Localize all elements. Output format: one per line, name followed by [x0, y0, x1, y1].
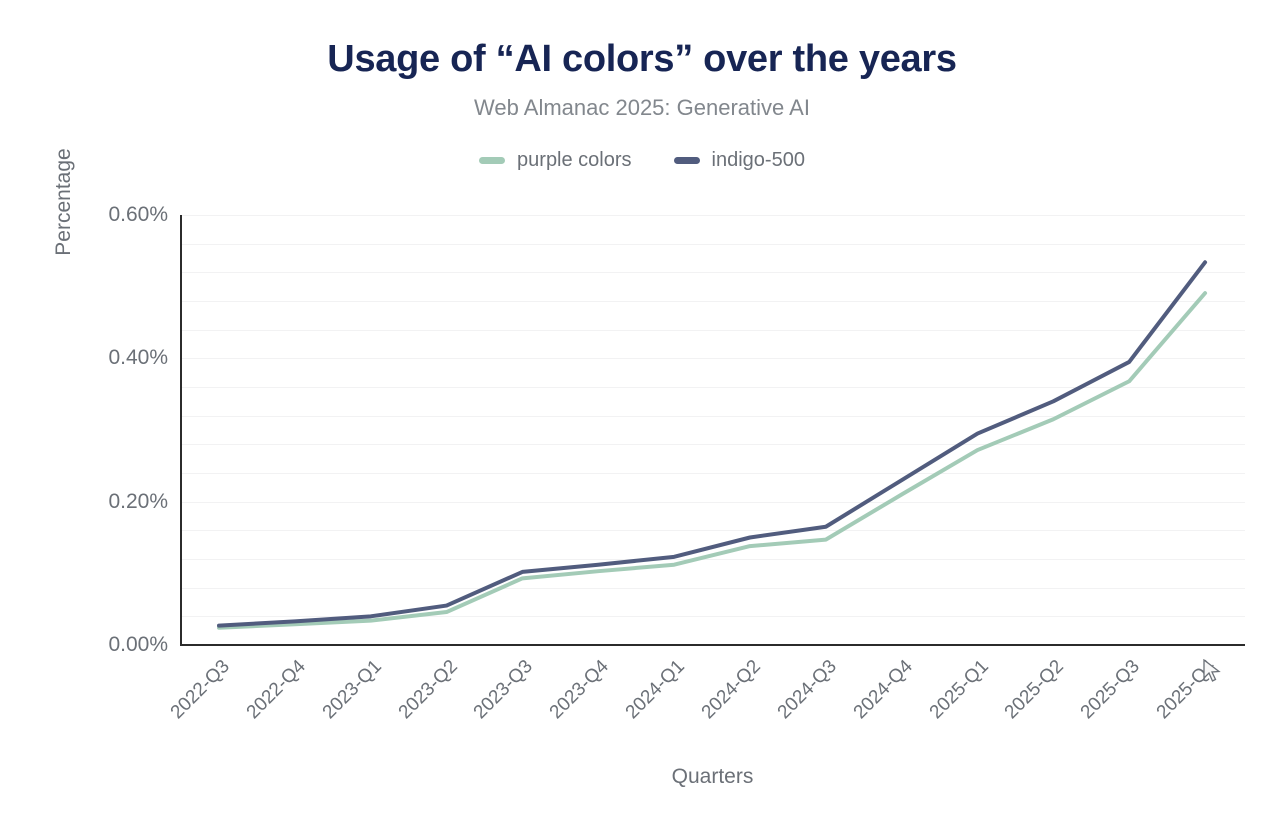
- chart-container: Usage of “AI colors” over the years Web …: [0, 0, 1284, 834]
- x-axis-tick-label: 2023-Q1: [229, 656, 386, 813]
- x-axis-tick-label: 2025-Q2: [912, 656, 1069, 813]
- y-axis-tick-label: 0.00%: [0, 633, 168, 657]
- x-axis-tick-label: 2024-Q2: [609, 656, 766, 813]
- x-axis-tick-label: 2022-Q3: [78, 656, 235, 813]
- x-axis-tick-label: 2023-Q4: [457, 656, 614, 813]
- x-axis-title: Quarters: [180, 765, 1245, 789]
- series-line: [219, 262, 1205, 625]
- chart-legend: purple colorsindigo-500: [0, 149, 1284, 172]
- series-line: [219, 293, 1205, 628]
- mouse-pointer-icon: [1203, 659, 1221, 683]
- chart-title: Usage of “AI colors” over the years: [0, 38, 1284, 81]
- x-axis-tick-label: 2025-Q4: [1064, 656, 1221, 813]
- y-axis-tick-label: 0.60%: [0, 203, 168, 227]
- x-axis-tick-label: 2022-Q4: [153, 656, 310, 813]
- chart-subtitle: Web Almanac 2025: Generative AI: [0, 95, 1284, 121]
- x-axis-tick-label: 2025-Q3: [988, 656, 1145, 813]
- legend-item-label: purple colors: [517, 149, 632, 172]
- y-axis-tick-label: 0.20%: [0, 490, 168, 514]
- x-axis-tick-label: 2024-Q1: [533, 656, 690, 813]
- legend-item[interactable]: indigo-500: [674, 149, 805, 172]
- x-axis-tick-label: 2023-Q2: [305, 656, 462, 813]
- y-axis-title: Percentage: [52, 122, 76, 282]
- x-axis-tick-label: 2024-Q3: [684, 656, 841, 813]
- y-axis-tick-label: 0.40%: [0, 346, 168, 370]
- x-axis-tick-label: 2025-Q1: [836, 656, 993, 813]
- legend-swatch-indigo-500: [674, 157, 700, 164]
- legend-swatch-purple-colors: [479, 157, 505, 164]
- x-axis-tick-label: 2023-Q3: [381, 656, 538, 813]
- legend-item-label: indigo-500: [712, 149, 805, 172]
- x-axis-tick-label: 2024-Q4: [760, 656, 917, 813]
- series-lines: [180, 215, 1245, 645]
- plot-area: [180, 215, 1245, 645]
- legend-item[interactable]: purple colors: [479, 149, 632, 172]
